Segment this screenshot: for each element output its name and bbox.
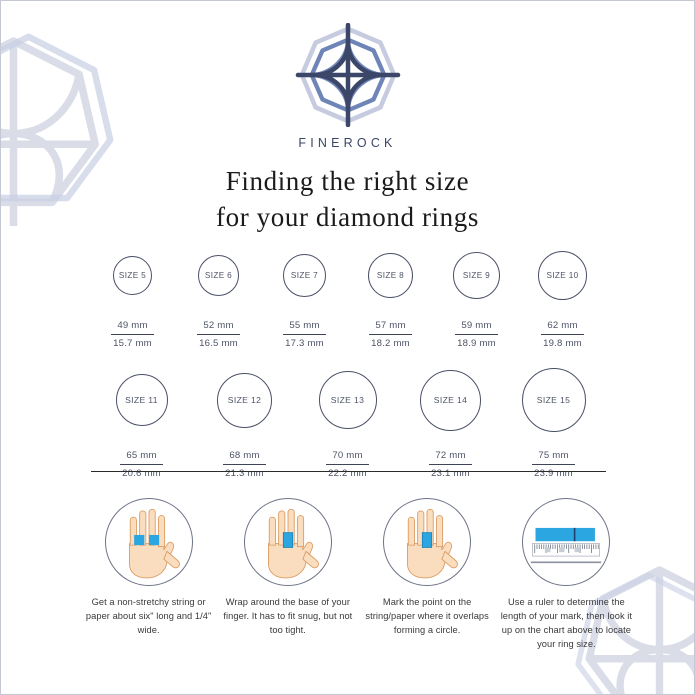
- size-cell[interactable]: SIZE 652 mm16.5 mm: [176, 244, 262, 349]
- diameter-value: 17.3 mm: [283, 335, 325, 349]
- ring-size-circle: SIZE 6: [198, 255, 239, 296]
- ring-circle-wrapper: SIZE 10: [538, 244, 587, 306]
- size-cell[interactable]: SIZE 1165 mm20.6 mm: [90, 364, 193, 479]
- page-title: Finding the right size for your diamond …: [1, 163, 694, 235]
- ring-size-label: SIZE 15: [537, 395, 571, 405]
- ring-circle-wrapper: SIZE 15: [522, 364, 586, 436]
- ring-circle-wrapper: SIZE 12: [217, 364, 272, 436]
- ring-size-circle: SIZE 14: [420, 370, 481, 431]
- ring-size-label: SIZE 12: [228, 395, 262, 405]
- measurement-block: 55 mm17.3 mm: [283, 315, 325, 349]
- diameter-value: 22.2 mm: [326, 465, 368, 479]
- circumference-value: 68 mm: [223, 450, 265, 465]
- ring-circle-wrapper: SIZE 11: [116, 364, 168, 436]
- ring-circle-wrapper: SIZE 5: [113, 244, 152, 306]
- ring-size-label: SIZE 5: [119, 271, 146, 280]
- ring-size-circle: SIZE 7: [283, 254, 326, 297]
- size-cell[interactable]: SIZE 1370 mm22.2 mm: [296, 364, 399, 479]
- size-cell[interactable]: SIZE 755 mm17.3 mm: [262, 244, 348, 349]
- size-cell[interactable]: SIZE 1062 mm19.8 mm: [520, 244, 606, 349]
- instruction-step: Use a ruler to determine the length of y…: [497, 498, 636, 652]
- measuring-instructions: Get a non-stretchy string or paper about…: [79, 498, 636, 652]
- measurement-block: 59 mm18.9 mm: [455, 315, 497, 349]
- size-cell[interactable]: SIZE 1472 mm23.1 mm: [399, 364, 502, 479]
- diameter-value: 21.3 mm: [223, 465, 265, 479]
- measurement-block: 62 mm19.8 mm: [541, 315, 583, 349]
- measurement-block: 65 mm20.6 mm: [120, 445, 162, 479]
- measurement-block: 75 mm23.9 mm: [532, 445, 574, 479]
- ring-size-circle: SIZE 5: [113, 256, 152, 295]
- measurement-block: 57 mm18.2 mm: [369, 315, 411, 349]
- circumference-value: 65 mm: [120, 450, 162, 465]
- circumference-value: 62 mm: [541, 320, 583, 335]
- circumference-value: 75 mm: [532, 450, 574, 465]
- ring-circle-wrapper: SIZE 13: [319, 364, 377, 436]
- diameter-value: 18.9 mm: [455, 335, 497, 349]
- size-chart: SIZE 549 mm15.7 mmSIZE 652 mm16.5 mmSIZE…: [1, 244, 694, 479]
- size-cell[interactable]: SIZE 857 mm18.2 mm: [348, 244, 434, 349]
- circumference-value: 55 mm: [283, 320, 325, 335]
- measurement-block: 72 mm23.1 mm: [429, 445, 471, 479]
- ring-circle-wrapper: SIZE 8: [368, 244, 413, 306]
- instruction-step: Mark the point on the string/paper where…: [358, 498, 497, 637]
- ring-circle-wrapper: SIZE 7: [283, 244, 326, 306]
- size-chart-row-2: SIZE 1165 mm20.6 mmSIZE 1268 mm21.3 mmSI…: [1, 364, 694, 479]
- ring-size-circle: SIZE 12: [217, 373, 272, 428]
- circumference-value: 72 mm: [429, 450, 471, 465]
- measurement-block: 68 mm21.3 mm: [223, 445, 265, 479]
- ring-size-chart-page: FINEROCK Finding the right size for your…: [0, 0, 695, 695]
- ring-size-circle: SIZE 13: [319, 371, 377, 429]
- brand-logo-block: FINEROCK: [1, 23, 694, 150]
- measurement-block: 49 mm15.7 mm: [111, 315, 153, 349]
- ring-size-circle: SIZE 11: [116, 374, 168, 426]
- diameter-value: 20.6 mm: [120, 465, 162, 479]
- ring-size-circle: SIZE 8: [368, 253, 413, 298]
- instruction-step-caption: Wrap around the base of your finger. It …: [218, 595, 357, 637]
- size-cell[interactable]: SIZE 1575 mm23.9 mm: [502, 364, 605, 479]
- instruction-step-caption: Get a non-stretchy string or paper about…: [79, 595, 218, 637]
- measurement-block: 70 mm22.2 mm: [326, 445, 368, 479]
- hand-wrap-finger-icon: [244, 498, 332, 586]
- circumference-value: 59 mm: [455, 320, 497, 335]
- circumference-value: 70 mm: [326, 450, 368, 465]
- circumference-value: 57 mm: [369, 320, 411, 335]
- diameter-value: 23.1 mm: [429, 465, 471, 479]
- size-cell[interactable]: SIZE 1268 mm21.3 mm: [193, 364, 296, 479]
- ruler-measure-icon: [522, 498, 610, 586]
- instruction-step: Wrap around the base of your finger. It …: [218, 498, 357, 637]
- diameter-value: 18.2 mm: [369, 335, 411, 349]
- size-cell[interactable]: SIZE 549 mm15.7 mm: [90, 244, 176, 349]
- size-chart-row-1: SIZE 549 mm15.7 mmSIZE 652 mm16.5 mmSIZE…: [1, 244, 694, 349]
- ring-size-label: SIZE 7: [291, 271, 318, 280]
- compass-star-logo-icon: [289, 23, 407, 127]
- measurement-block: 52 mm16.5 mm: [197, 315, 239, 349]
- circumference-value: 52 mm: [197, 320, 239, 335]
- instruction-step-caption: Mark the point on the string/paper where…: [358, 595, 497, 637]
- brand-name: FINEROCK: [298, 136, 396, 150]
- instruction-step: Get a non-stretchy string or paper about…: [79, 498, 218, 637]
- ring-size-label: SIZE 14: [434, 395, 468, 405]
- ring-size-circle: SIZE 15: [522, 368, 586, 432]
- ring-size-circle: SIZE 10: [538, 251, 587, 300]
- ring-size-label: SIZE 11: [125, 395, 158, 405]
- ring-size-label: SIZE 9: [463, 271, 490, 280]
- diameter-value: 19.8 mm: [541, 335, 583, 349]
- section-divider: [91, 471, 606, 472]
- ring-size-label: SIZE 10: [546, 271, 578, 280]
- ring-circle-wrapper: SIZE 6: [198, 244, 239, 306]
- ring-circle-wrapper: SIZE 9: [453, 244, 500, 306]
- diameter-value: 16.5 mm: [197, 335, 239, 349]
- instruction-step-caption: Use a ruler to determine the length of y…: [497, 595, 636, 652]
- hand-mark-point-icon: [383, 498, 471, 586]
- ring-size-label: SIZE 8: [377, 271, 404, 280]
- ring-circle-wrapper: SIZE 14: [420, 364, 481, 436]
- diameter-value: 15.7 mm: [111, 335, 153, 349]
- ring-size-label: SIZE 6: [205, 271, 232, 280]
- page-title-line1: Finding the right size: [1, 163, 694, 199]
- size-cell[interactable]: SIZE 959 mm18.9 mm: [434, 244, 520, 349]
- hand-with-string-icon: [105, 498, 193, 586]
- ring-size-circle: SIZE 9: [453, 252, 500, 299]
- page-title-line2: for your diamond rings: [1, 199, 694, 235]
- circumference-value: 49 mm: [111, 320, 153, 335]
- ring-size-label: SIZE 13: [331, 395, 365, 405]
- diameter-value: 23.9 mm: [532, 465, 574, 479]
